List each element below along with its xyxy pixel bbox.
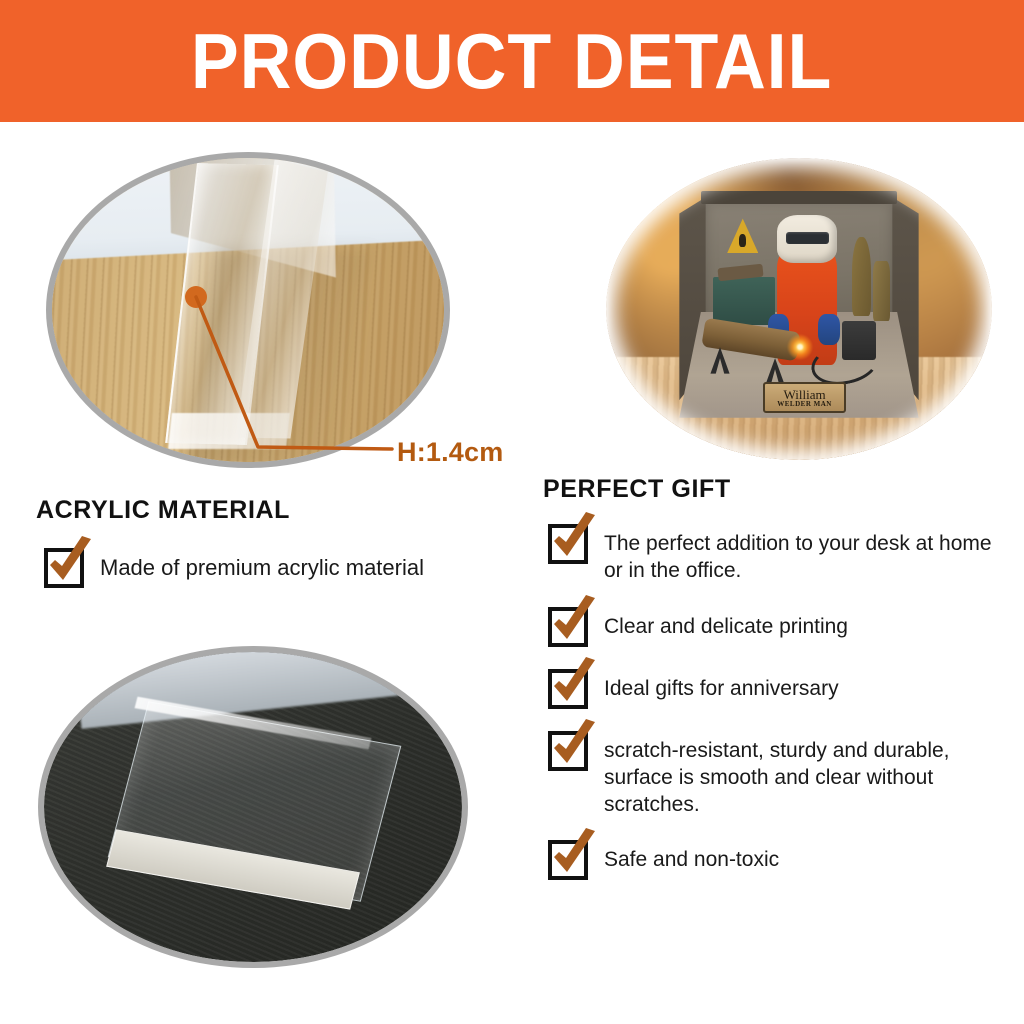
feature-text: scratch-resistant, sturdy and durable, s… bbox=[604, 731, 1004, 819]
checkmark-icon bbox=[548, 827, 600, 883]
product-detail-page: PRODUCT DETAIL bbox=[0, 0, 1024, 1024]
list-item: Ideal gifts for anniversary bbox=[548, 669, 1008, 709]
welding-spark bbox=[787, 334, 813, 360]
helmet-visor bbox=[786, 232, 829, 244]
box-top-rim bbox=[701, 191, 897, 204]
acrylic-block-edge-photo bbox=[46, 152, 450, 468]
list-item: Clear and delicate printing bbox=[548, 607, 1008, 647]
feature-text: Safe and non-toxic bbox=[604, 840, 779, 873]
acrylic-edge-photo-inner bbox=[52, 158, 444, 462]
feature-text: Ideal gifts for anniversary bbox=[604, 669, 839, 702]
list-item: The perfect addition to your desk at hom… bbox=[548, 524, 1008, 585]
checkmark-icon bbox=[548, 718, 600, 774]
gas-cylinder bbox=[852, 237, 871, 316]
welding-helmet bbox=[777, 215, 837, 263]
acrylic-flat-photo-inner bbox=[44, 652, 462, 962]
checkmark-icon bbox=[548, 511, 600, 567]
section-title-acrylic-material: ACRYLIC MATERIAL bbox=[36, 496, 290, 525]
welder-diorama-photo: William WELDER MAN bbox=[606, 158, 992, 460]
checkmark-icon bbox=[548, 656, 600, 712]
nameplate-subtitle: WELDER MAN bbox=[777, 401, 832, 408]
checkbox-checked[interactable] bbox=[548, 524, 588, 564]
welder-glove-right bbox=[818, 314, 840, 345]
workbench bbox=[713, 277, 775, 325]
height-callout-label: H:1.4cm bbox=[397, 437, 503, 468]
section-title-perfect-gift: PERFECT GIFT bbox=[543, 475, 731, 504]
welder-photo-inner: William WELDER MAN bbox=[606, 158, 992, 460]
checkbox-checked[interactable] bbox=[44, 548, 84, 588]
perfect-gift-feature-list: The perfect addition to your desk at hom… bbox=[548, 524, 1008, 902]
gas-cylinder-secondary bbox=[873, 261, 890, 321]
acrylic-slab-flat-photo bbox=[38, 646, 468, 968]
acrylic-base-highlight bbox=[168, 413, 289, 449]
nameplate: William WELDER MAN bbox=[763, 382, 846, 412]
feature-text: The perfect addition to your desk at hom… bbox=[604, 524, 1004, 585]
nameplate-name: William bbox=[784, 388, 826, 401]
checkmark-icon bbox=[44, 535, 96, 591]
feature-text: Clear and delicate printing bbox=[604, 607, 848, 640]
list-item: scratch-resistant, sturdy and durable, s… bbox=[548, 731, 1008, 819]
checkbox-checked[interactable] bbox=[548, 840, 588, 880]
checkbox-checked[interactable] bbox=[548, 731, 588, 771]
checkbox-checked[interactable] bbox=[548, 669, 588, 709]
diorama-box: William WELDER MAN bbox=[679, 197, 918, 417]
feature-acrylic-material: Made of premium acrylic material bbox=[44, 548, 514, 588]
feature-text: Made of premium acrylic material bbox=[100, 548, 424, 583]
checkmark-icon bbox=[548, 594, 600, 650]
page-header-banner: PRODUCT DETAIL bbox=[0, 0, 1024, 122]
page-title: PRODUCT DETAIL bbox=[191, 22, 832, 100]
list-item: Safe and non-toxic bbox=[548, 840, 1008, 880]
checkbox-checked[interactable] bbox=[548, 607, 588, 647]
